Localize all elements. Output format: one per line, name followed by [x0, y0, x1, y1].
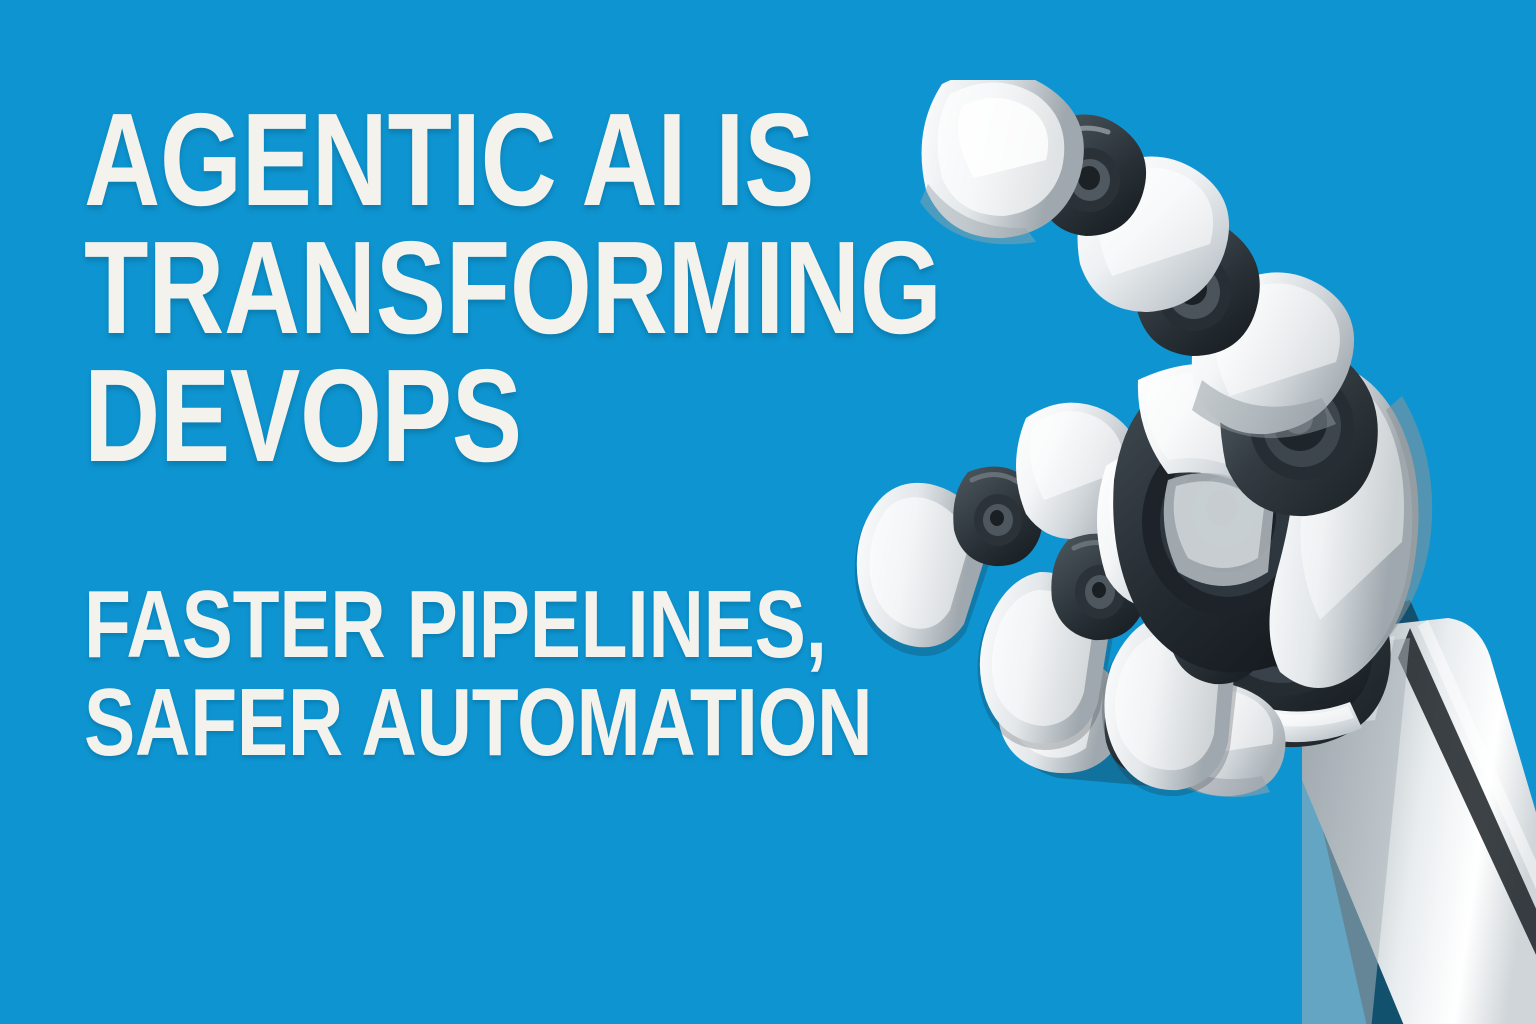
headline-line-1: AGENTIC AI IS [84, 96, 756, 224]
poster-canvas: AGENTIC AI IS TRANSFORMING DEVOPS FASTER… [0, 0, 1536, 1024]
text-block: AGENTIC AI IS TRANSFORMING DEVOPS FASTER… [84, 96, 924, 772]
headline-line-3: DEVOPS [84, 352, 756, 480]
page-title: AGENTIC AI IS TRANSFORMING DEVOPS [84, 96, 924, 480]
subheadline-line-1: FASTER PIPELINES, [84, 576, 756, 674]
headline-line-2: TRANSFORMING [84, 224, 756, 352]
title-subtitle-spacer [84, 480, 924, 576]
page-subtitle: FASTER PIPELINES, SAFER AUTOMATION [84, 576, 924, 772]
subheadline-line-2: SAFER AUTOMATION [84, 674, 756, 772]
robotic-hand-illustration [850, 80, 1536, 1024]
